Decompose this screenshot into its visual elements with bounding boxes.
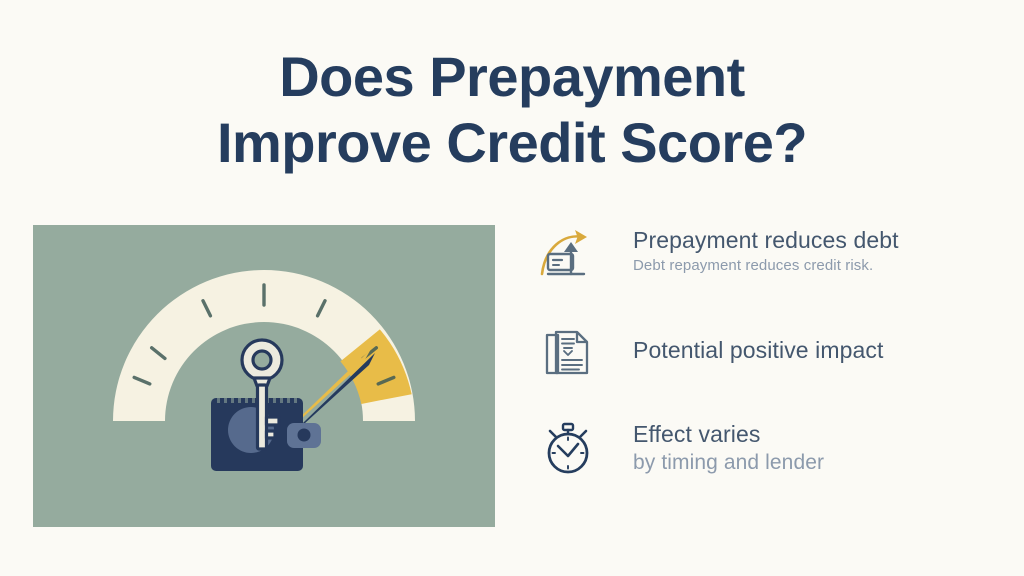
- payment-card-up-arrow-icon: [537, 224, 599, 282]
- list-item-title: Prepayment reduces debt: [633, 226, 899, 255]
- list-item[interactable]: Prepayment reduces debt Debt repayment r…: [537, 224, 997, 282]
- stopwatch-icon: [537, 420, 599, 478]
- title-line-1: Does Prepayment: [0, 44, 1024, 110]
- list-item-subtitle: by timing and lender: [633, 449, 824, 477]
- list-item-title: Potential positive impact: [633, 336, 884, 365]
- list-item[interactable]: Potential positive impact: [537, 324, 997, 382]
- title-line-2: Improve Credit Score?: [0, 110, 1024, 176]
- bullet-list: Prepayment reduces debt Debt repayment r…: [537, 224, 997, 478]
- credit-score-gauge-illustration: [33, 225, 495, 527]
- list-item-text: Prepayment reduces debt Debt repayment r…: [599, 224, 899, 277]
- documents-icon: [537, 324, 599, 382]
- list-item[interactable]: Effect varies by timing and lender: [537, 420, 997, 478]
- illustration-panel: [33, 225, 495, 527]
- list-item-title: Effect varies: [633, 420, 824, 449]
- page-title: Does Prepayment Improve Credit Score?: [0, 44, 1024, 176]
- list-item-text: Effect varies by timing and lender: [599, 420, 824, 477]
- slide-canvas: Does Prepayment Improve Credit Score?: [0, 0, 1024, 576]
- list-item-text: Potential positive impact: [599, 324, 884, 365]
- list-item-subtitle: Debt repayment reduces credit risk.: [633, 255, 899, 277]
